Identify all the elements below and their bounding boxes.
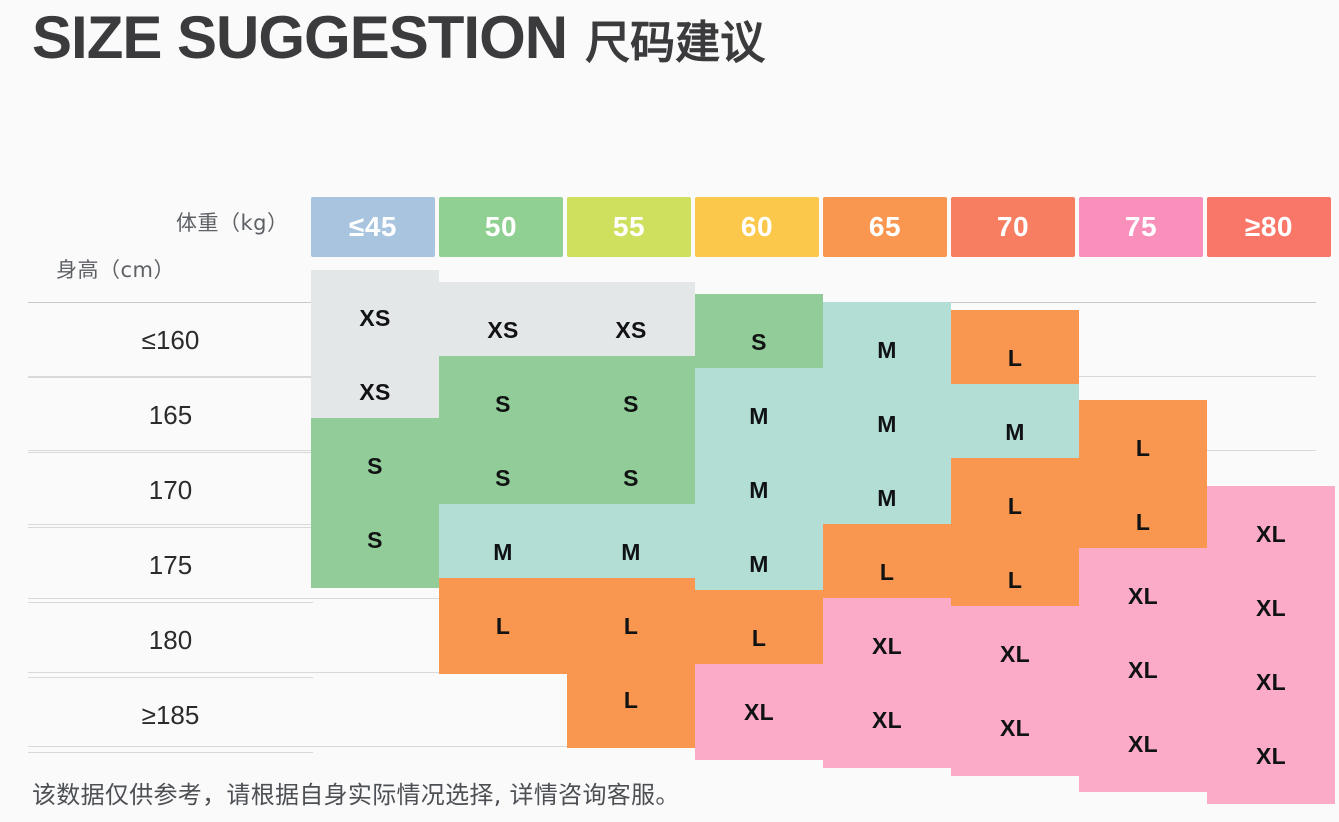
- footer-note: 该数据仅供参考，请根据自身实际情况选择, 详情咨询客服。: [32, 775, 680, 810]
- size-cell[interactable]: XL: [1207, 708, 1335, 804]
- size-cell[interactable]: XL: [1079, 696, 1207, 792]
- size-cell[interactable]: L: [439, 578, 567, 674]
- size-cell[interactable]: S: [311, 492, 439, 588]
- size-cell[interactable]: XL: [823, 672, 951, 768]
- size-matrix: XSXSXSSMLXSSSMMMLSSSMMLLXLSMMMLLXLXLLLLX…: [0, 0, 1339, 822]
- size-cell[interactable]: XL: [951, 680, 1079, 776]
- size-cell[interactable]: XL: [695, 664, 823, 760]
- size-cell[interactable]: L: [567, 652, 695, 748]
